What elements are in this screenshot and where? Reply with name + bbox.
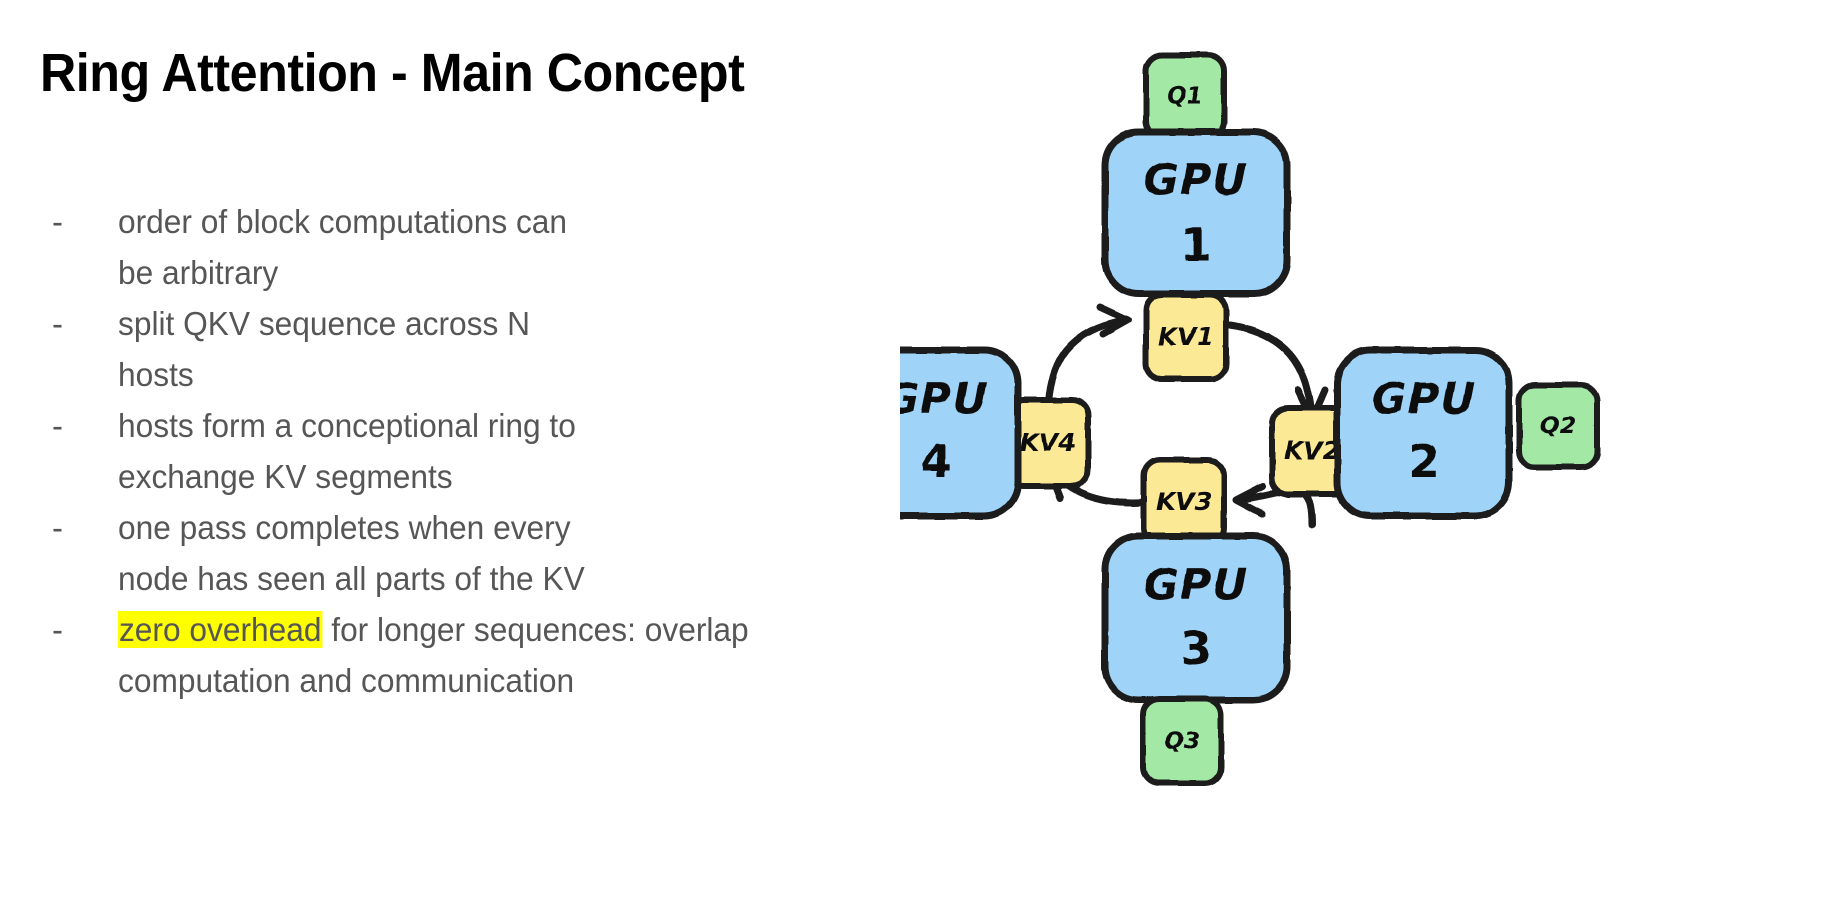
- gpu-number-2: 2: [1408, 435, 1439, 488]
- kv-label-3: KV3: [1156, 487, 1212, 516]
- bullet-text: split QKV sequence across Nhosts: [118, 298, 784, 400]
- list-item: - split QKV sequence across Nhosts: [52, 298, 812, 400]
- list-item: - one pass completes when everynode has …: [52, 502, 812, 604]
- list-item-highlighted: - zero overhead for longer sequences: ov…: [52, 604, 812, 706]
- gpu-word-1: GPU: [1144, 156, 1249, 206]
- gpu-number-4: 4: [920, 435, 951, 488]
- q-label-1: Q1: [1167, 84, 1203, 110]
- bullet-marker: -: [52, 298, 118, 349]
- gpu-word-4: GPU: [900, 375, 988, 425]
- gpu-box-3: GPU 3: [1105, 536, 1287, 700]
- q-box-1: Q1: [1146, 55, 1224, 137]
- ring-attention-diagram: Q1 GPU 1 KV1 KV4: [900, 20, 1832, 913]
- q-label-3: Q3: [1164, 729, 1200, 755]
- q-box-2: Q2: [1519, 385, 1597, 467]
- bullet-marker: -: [52, 502, 118, 553]
- gpu-box-1: GPU 1: [1105, 132, 1287, 294]
- kv-box-3: KV3: [1144, 460, 1224, 544]
- kv-label-2: KV2: [1284, 436, 1340, 465]
- bullet-text: order of block computations canbe arbitr…: [118, 196, 784, 298]
- bullet-text: hosts form a conceptional ring toexchang…: [118, 400, 784, 502]
- bullet-marker: -: [52, 400, 118, 451]
- gpu-number-3: 3: [1180, 622, 1211, 675]
- gpu-box-4: GPU 4: [900, 350, 1018, 516]
- q-label-2: Q2: [1540, 414, 1576, 440]
- page-title: Ring Attention - Main Concept: [40, 42, 744, 104]
- list-item: - hosts form a conceptional ring toexcha…: [52, 400, 812, 502]
- kv-label-4: KV4: [1020, 428, 1076, 457]
- slide-root: Ring Attention - Main Concept - order of…: [0, 0, 1832, 913]
- kv-box-1: KV1: [1146, 295, 1226, 379]
- q-box-3: Q3: [1143, 699, 1221, 783]
- gpu-word-3: GPU: [1144, 561, 1249, 611]
- gpu-word-2: GPU: [1372, 375, 1477, 425]
- arrow-kv4-to-kv1: [1048, 307, 1128, 410]
- bullet-text: zero overhead for longer sequences: over…: [118, 604, 784, 706]
- bullet-list: - order of block computations canbe arbi…: [52, 196, 812, 706]
- kv-label-1: KV1: [1158, 322, 1214, 351]
- bullet-marker: -: [52, 604, 118, 655]
- bullet-text: one pass completes when everynode has se…: [118, 502, 784, 604]
- gpu-box-2: GPU 2: [1337, 350, 1509, 516]
- list-item: - order of block computations canbe arbi…: [52, 196, 812, 298]
- gpu-number-1: 1: [1180, 218, 1211, 271]
- highlighted-phrase: zero overhead: [118, 611, 322, 648]
- bullet-marker: -: [52, 196, 118, 247]
